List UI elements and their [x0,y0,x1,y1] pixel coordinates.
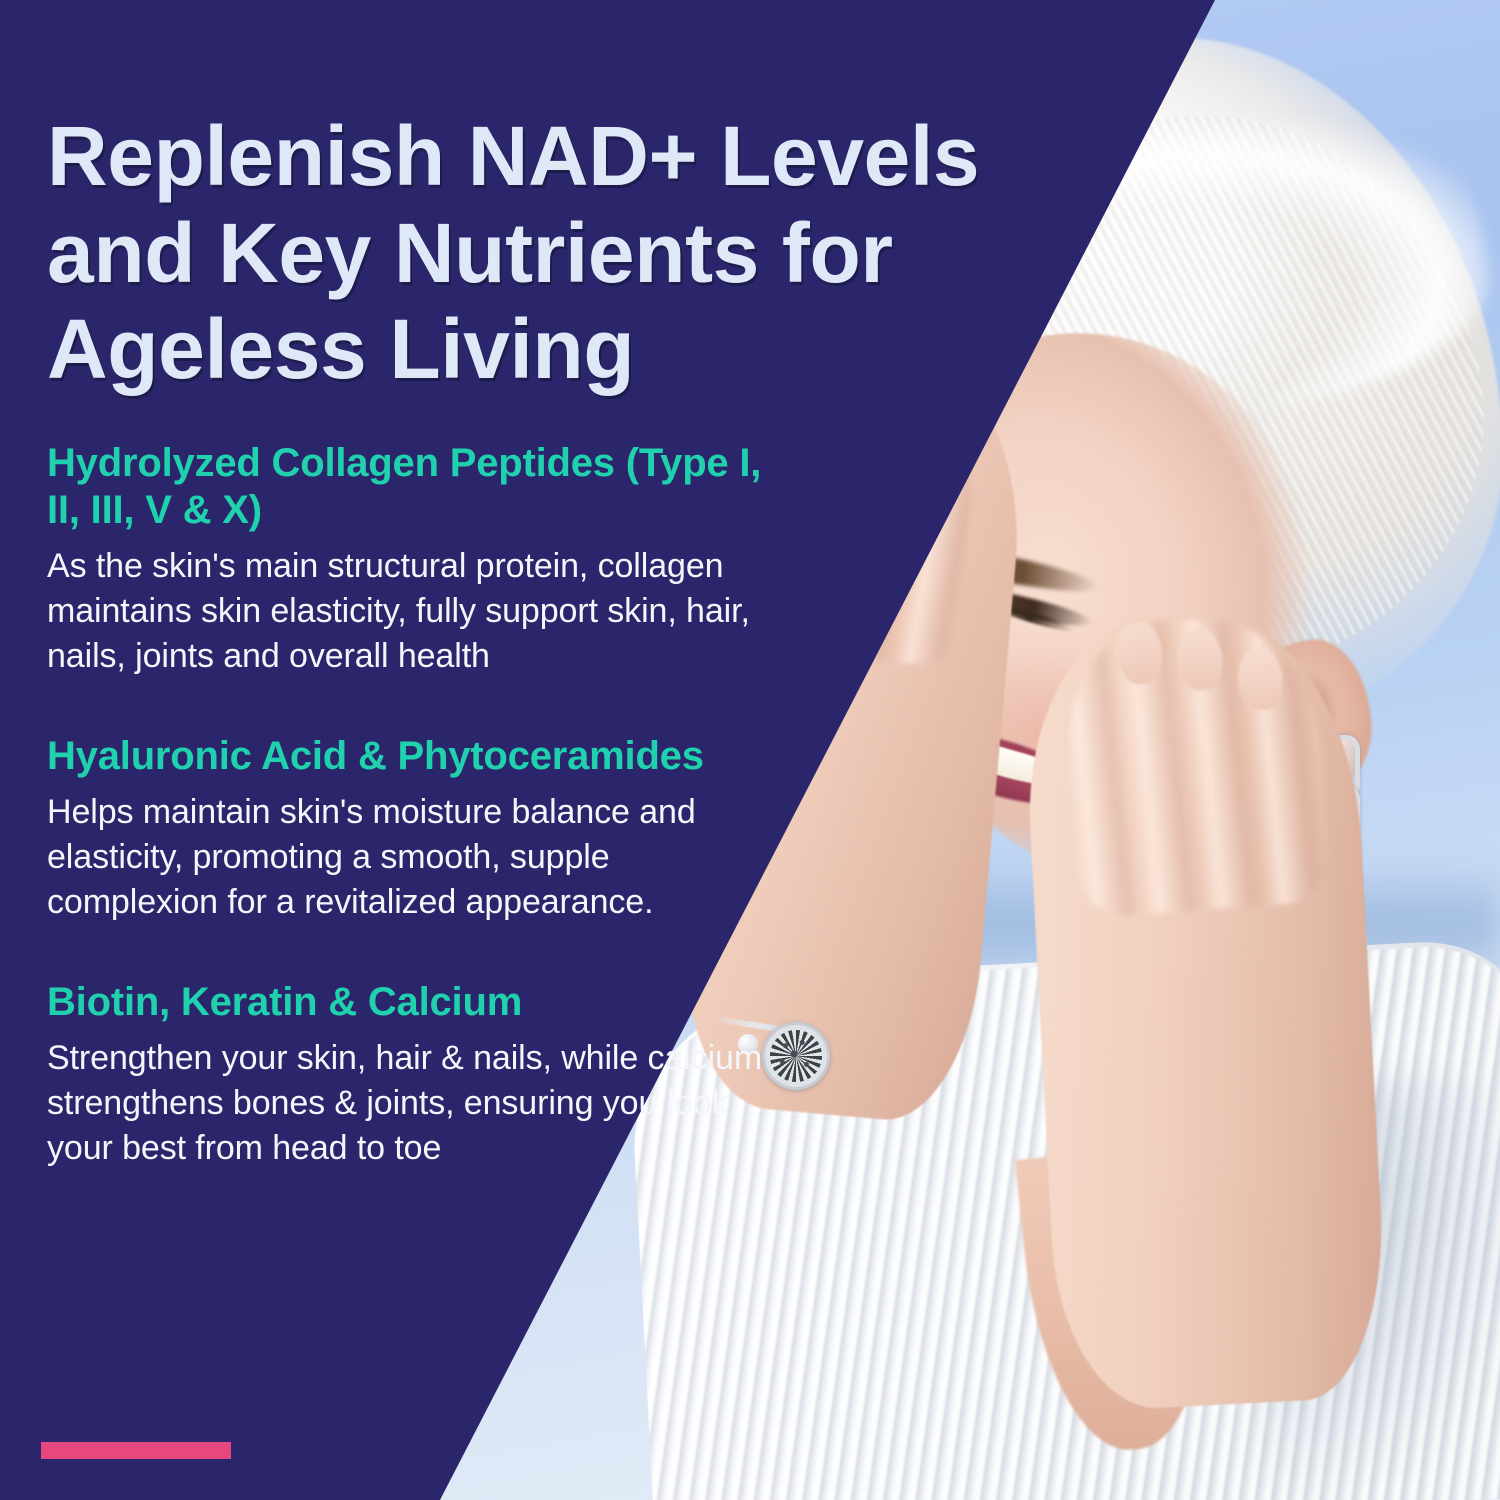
benefit-description: Helps maintain skin's moisture balance a… [47,790,767,925]
benefit-description: Strengthen your skin, hair & nails, whil… [47,1036,767,1171]
benefit-section-biotin-keratin-calcium: Biotin, Keratin & Calcium Strengthen you… [47,979,767,1171]
text-content: Replenish NAD+ Levels and Key Nutrients … [0,0,1500,1500]
benefit-description: As the skin's main structural protein, c… [47,544,767,679]
benefit-sections: Hydrolyzed Collagen Peptides (Type I, II… [47,440,767,1171]
benefit-section-collagen: Hydrolyzed Collagen Peptides (Type I, II… [47,440,767,679]
benefit-heading: Hydrolyzed Collagen Peptides (Type I, II… [47,440,767,534]
benefit-heading: Hyaluronic Acid & Phytoceramides [47,733,767,780]
infographic-canvas: Replenish NAD+ Levels and Key Nutrients … [0,0,1500,1500]
benefit-heading: Biotin, Keratin & Calcium [47,979,767,1026]
page-title: Replenish NAD+ Levels and Key Nutrients … [47,108,1107,398]
accent-bar [41,1442,231,1459]
benefit-section-hyaluronic-acid: Hyaluronic Acid & Phytoceramides Helps m… [47,733,767,925]
